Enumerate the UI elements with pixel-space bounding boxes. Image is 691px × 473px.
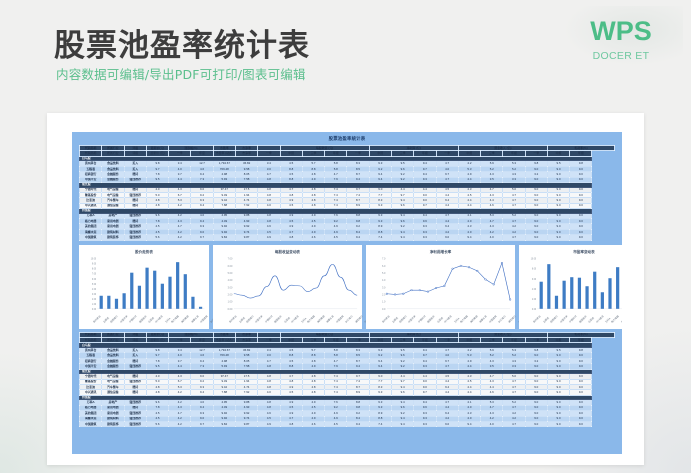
table-cell: 4.0 xyxy=(481,421,503,426)
table-cell: 9.84 xyxy=(213,421,235,426)
table-bottom-wrapper: 代码简称所属行业评级最新价(元)涨跌幅(%)市盈率市净率每股收益 (元)净利润 … xyxy=(79,332,615,428)
svg-text:3.00: 3.00 xyxy=(228,287,233,289)
svg-text:6.00: 6.00 xyxy=(532,278,537,280)
table-cell: 强烈推荐 xyxy=(124,235,146,240)
svg-text:8.00: 8.00 xyxy=(92,268,97,270)
table-cell: 9.0 xyxy=(547,421,569,426)
table-cell: 建筑装饰 xyxy=(102,421,124,426)
svg-text:5.0: 5.0 xyxy=(382,273,386,275)
stock-table-top: 代码简称所属行业评级最新价(元)涨跌幅(%)市盈率市净率每股收益 (元)净利润 … xyxy=(79,145,615,241)
chart-card[interactable]: 每股收益变动表7.006.005.004.003.002.001.000.00贵… xyxy=(213,245,362,329)
svg-text:2.00: 2.00 xyxy=(532,298,537,300)
spreadsheet-canvas: 股票池盈率统计表 代码简称所属行业评级最新价(元)涨跌幅(%)市盈率市净率每股收… xyxy=(72,132,622,454)
svg-text:9.00: 9.00 xyxy=(92,263,97,265)
page-header: 股票池盈率统计表 内容数据可编辑/导出PDF可打印/图表可编辑 WPS DOCE… xyxy=(0,0,691,108)
svg-text:1.00: 1.00 xyxy=(92,303,97,305)
svg-text:1.0: 1.0 xyxy=(382,301,386,303)
chart-title: 股价走势表 xyxy=(81,250,207,255)
svg-text:4.00: 4.00 xyxy=(532,288,537,290)
svg-text:4.00: 4.00 xyxy=(228,280,233,282)
table-cell: 4.5 xyxy=(325,235,347,240)
svg-text:5.00: 5.00 xyxy=(92,283,97,285)
svg-text:3.00: 3.00 xyxy=(92,293,97,295)
chart-card[interactable]: 净利润增长率7.06.05.04.03.02.01.00.0贵州茅台五粮液招商银… xyxy=(366,245,515,329)
table-cell: 4.9 xyxy=(258,235,280,240)
svg-text:7.00: 7.00 xyxy=(228,258,233,260)
table-cell: 4.8 xyxy=(280,421,302,426)
table-cell: 9.84 xyxy=(213,235,235,240)
table-cell: 9.0 xyxy=(547,235,569,240)
table-cell: 4.2 xyxy=(169,235,191,240)
svg-text:0.00: 0.00 xyxy=(92,308,97,310)
table-cell: 建筑装饰 xyxy=(102,235,124,240)
svg-text:2.0: 2.0 xyxy=(382,294,386,296)
page-subtitle: 内容数据可编辑/导出PDF可打印/图表可编辑 xyxy=(56,64,306,83)
table-cell: 4.5 xyxy=(325,421,347,426)
table-top-wrapper: 代码简称所属行业评级最新价(元)涨跌幅(%)市盈率市净率每股收益 (元)净利润 … xyxy=(79,145,615,241)
table-cell: 9.0 xyxy=(570,235,592,240)
svg-text:6.0: 6.0 xyxy=(382,266,386,268)
table-cell: 4.7 xyxy=(503,235,525,240)
table-cell: 9.7 xyxy=(191,235,213,240)
svg-text:0.0: 0.0 xyxy=(382,309,386,311)
svg-text:7.0: 7.0 xyxy=(382,258,386,260)
table-cell: 9.0 xyxy=(525,235,547,240)
chart-plot-area: 10.009.008.007.006.005.004.003.002.001.0… xyxy=(81,256,207,322)
svg-text:10.00: 10.00 xyxy=(531,258,537,260)
wps-logo-main: WPS xyxy=(575,18,667,45)
table-cell: 9.0 xyxy=(436,235,458,240)
svg-text:10.00: 10.00 xyxy=(91,258,97,260)
table-row[interactable]: 中国建筑建筑装饰强烈推荐5.64.29.79.849.874.94.84.64.… xyxy=(80,421,615,426)
table-cell: 9.0 xyxy=(525,421,547,426)
svg-text:2.00: 2.00 xyxy=(92,298,97,300)
table-cell: 5.6 xyxy=(146,421,168,426)
table-cell: 9.7 xyxy=(191,421,213,426)
charts-row: 股价走势表10.009.008.007.006.005.004.003.002.… xyxy=(79,245,615,329)
svg-text:8.00: 8.00 xyxy=(532,268,537,270)
table-cell: 4.2 xyxy=(169,421,191,426)
table-cell: 中国建筑 xyxy=(80,235,102,240)
chart-x-axis-labels: 贵州茅台五粮液招商银行中国平安宁德时代隆基股份比亚迪中兴通讯万科A格力电器美的集… xyxy=(521,321,622,325)
svg-text:6.00: 6.00 xyxy=(228,266,233,268)
table-cell: 4.9 xyxy=(258,421,280,426)
table-body: 白马股贵州茅台食品饮料买入9.83.412.71,794.6736.823.44… xyxy=(80,343,615,427)
table-cell: 9.0 xyxy=(436,421,458,426)
table-cell: 9.4 xyxy=(391,235,413,240)
chart-title: 市盈率变动表 xyxy=(521,250,622,255)
chart-plot-area: 10.008.006.004.002.000.00 xyxy=(521,256,622,322)
table-body: 白马股贵州茅台食品饮料买入9.83.412.71,794.6736.823.44… xyxy=(80,156,615,240)
table-cell: 7.4 xyxy=(369,235,391,240)
table-cell: 9.4 xyxy=(458,421,480,426)
wps-logo: WPS DOCER ET xyxy=(575,18,667,62)
table-cell: 中国建筑 xyxy=(80,421,102,426)
svg-text:2.00: 2.00 xyxy=(228,294,233,296)
stock-table-bottom: 代码简称所属行业评级最新价(元)涨跌幅(%)市盈率市净率每股收益 (元)净利润 … xyxy=(79,332,615,428)
table-cell: 9.4 xyxy=(347,235,369,240)
table-cell: 9.87 xyxy=(235,421,257,426)
table-cell: 9.4 xyxy=(391,421,413,426)
chart-title: 每股收益变动表 xyxy=(215,250,360,255)
table-head: 代码简称所属行业评级最新价(元)涨跌幅(%)市盈率市净率每股收益 (元)净利润 … xyxy=(80,332,615,343)
chart-plot-area: 7.006.005.004.003.002.001.000.00 xyxy=(215,256,360,322)
table-cell: 9.3 xyxy=(414,421,436,426)
sheet-title: 股票池盈率统计表 xyxy=(72,132,622,142)
table-cell: 9.0 xyxy=(570,421,592,426)
svg-text:0.00: 0.00 xyxy=(532,308,537,310)
chart-title: 净利润增长率 xyxy=(368,250,513,255)
table-cell: 4.8 xyxy=(280,235,302,240)
svg-text:3.0: 3.0 xyxy=(382,287,386,289)
svg-text:1.00: 1.00 xyxy=(228,301,233,303)
table-cell: 5.6 xyxy=(146,235,168,240)
table-cell: 9.3 xyxy=(414,235,436,240)
table-cell: 9.4 xyxy=(347,421,369,426)
document-page: 股票池盈率统计表 代码简称所属行业评级最新价(元)涨跌幅(%)市盈率市净率每股收… xyxy=(47,113,644,465)
wps-logo-sub: DOCER ET xyxy=(575,50,667,62)
svg-text:4.00: 4.00 xyxy=(92,288,97,290)
table-cell: 4.6 xyxy=(302,235,324,240)
table-cell: 9.4 xyxy=(458,235,480,240)
table-head: 代码简称所属行业评级最新价(元)涨跌幅(%)市盈率市净率每股收益 (元)净利润 … xyxy=(80,146,615,157)
table-cell: 4.0 xyxy=(481,235,503,240)
svg-text:7.00: 7.00 xyxy=(92,273,97,275)
svg-text:6.00: 6.00 xyxy=(92,278,97,280)
svg-text:0.00: 0.00 xyxy=(228,309,233,311)
chart-plot-area: 7.06.05.04.03.02.01.00.0 xyxy=(368,256,513,322)
chart-card[interactable]: 市盈率变动表10.008.006.004.002.000.00贵州茅台五粮液招商… xyxy=(519,245,622,329)
svg-text:5.00: 5.00 xyxy=(228,273,233,275)
table-row[interactable]: 中国建筑建筑装饰强烈推荐5.64.29.79.849.874.94.84.64.… xyxy=(80,235,615,240)
table-cell: 4.6 xyxy=(302,421,324,426)
table-cell: 强烈推荐 xyxy=(124,421,146,426)
table-cell: 9.87 xyxy=(235,235,257,240)
svg-text:4.0: 4.0 xyxy=(382,280,386,282)
table-cell: 4.7 xyxy=(503,421,525,426)
page-title: 股票池盈率统计表 xyxy=(54,20,310,65)
table-cell: 7.4 xyxy=(369,421,391,426)
chart-card[interactable]: 股价走势表10.009.008.007.006.005.004.003.002.… xyxy=(79,245,209,329)
